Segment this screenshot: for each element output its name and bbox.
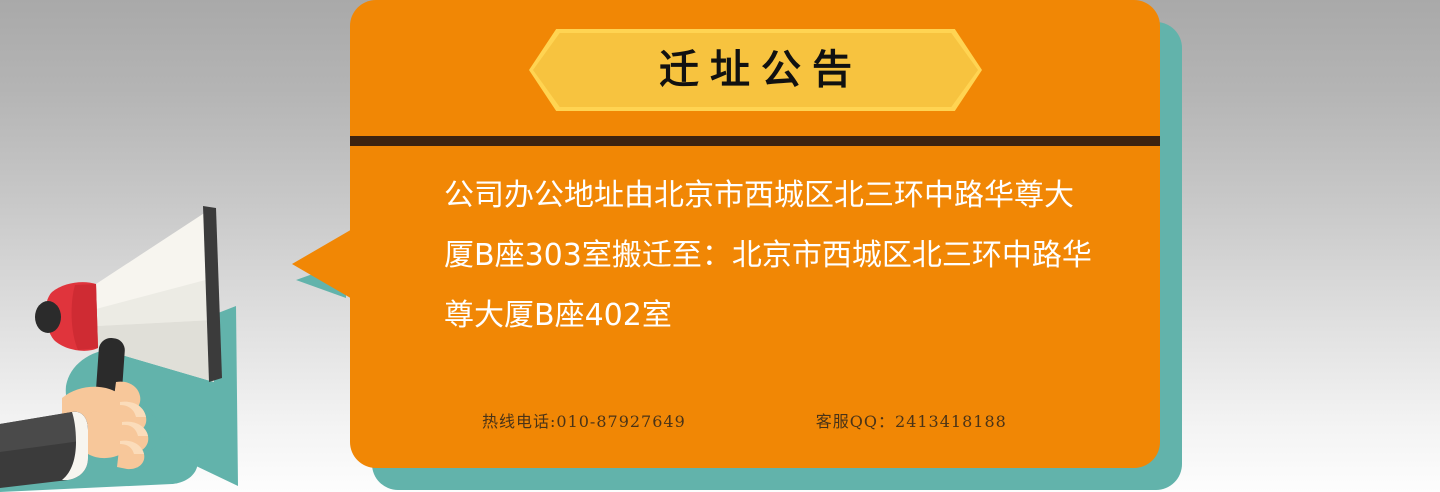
announcement-poster: 迁址公告 公司办公地址由北京市西城区北三环中路华尊大厦B座303室搬迁至：北京市… <box>0 0 1440 492</box>
title-banner: 迁址公告 <box>533 33 978 107</box>
speech-bubble-tail <box>292 228 354 300</box>
header-divider <box>350 136 1160 146</box>
contact-footer: 热线电话:010-87927649 客服QQ：2413418188 <box>444 408 1092 432</box>
page-title: 迁址公告 <box>648 50 863 90</box>
suit-sleeve <box>0 412 88 488</box>
megaphone-illustration <box>0 186 320 492</box>
qq-text: 客服QQ：2413418188 <box>816 408 1007 432</box>
title-banner-shape: 迁址公告 <box>533 33 978 107</box>
announcement-body: 公司办公地址由北京市西城区北三环中路华尊大厦B座303室搬迁至：北京市西城区北三… <box>444 166 1092 346</box>
hotline-text: 热线电话:010-87927649 <box>482 408 686 432</box>
megaphone-mouthpiece <box>35 282 98 351</box>
